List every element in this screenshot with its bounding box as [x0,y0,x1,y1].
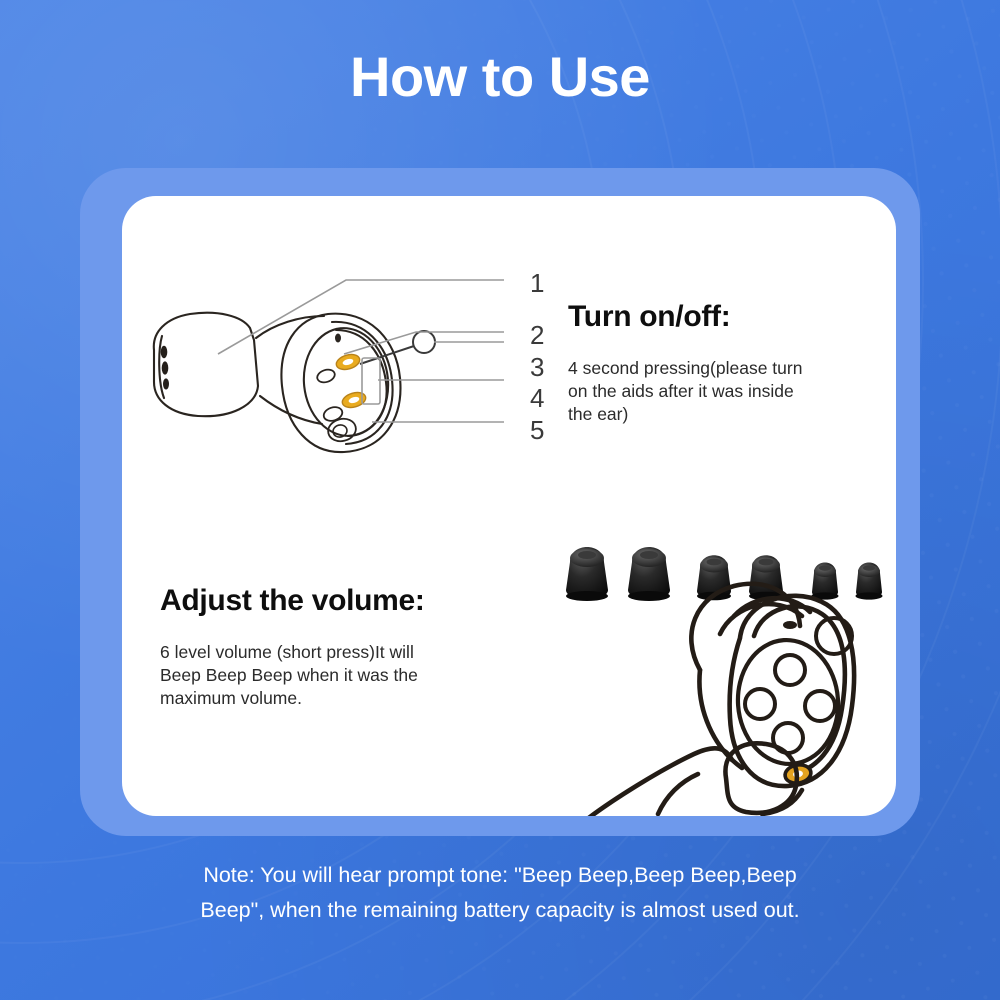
section-adjust-volume: Adjust the volume: 6 level volume (short… [160,584,520,710]
how-to-use-page: How to Use [0,0,1000,1000]
page-title: How to Use [0,46,1000,108]
thumb-pressing-button-illustration [584,578,896,816]
turn-on-off-heading: Turn on/off: [568,300,878,335]
callout-number-3: 3 [530,354,544,380]
callout-number-5: 5 [530,417,544,443]
callout-number-2: 2 [530,322,544,348]
turn-on-off-body-line-1: 4 second pressing(please turn [568,357,878,380]
adjust-volume-body: 6 level volume (short press)It will Beep… [160,641,520,711]
callout-number-1: 1 [530,270,544,296]
turn-on-off-body-line-3: the ear) [568,403,878,426]
adjust-volume-body-line-3: maximum volume. [160,687,520,710]
adjust-volume-body-line-2: Beep Beep Beep when it was the [160,664,520,687]
hearing-aid-diagram [132,254,562,484]
footer-note-line-2: Beep", when the remaining battery capaci… [0,893,1000,928]
adjust-volume-heading: Adjust the volume: [160,584,520,619]
turn-on-off-body-line-2: on the aids after it was inside [568,380,878,403]
footer-note: Note: You will hear prompt tone: "Beep B… [0,858,1000,928]
section-turn-on-off: Turn on/off: 4 second pressing(please tu… [568,300,878,426]
adjust-volume-body-line-1: 6 level volume (short press)It will [160,641,520,664]
turn-on-off-body: 4 second pressing(please turn on the aid… [568,357,878,427]
instruction-card: 1 2 3 4 5 Turn on/off: 4 second pressing… [122,196,896,816]
footer-note-line-1: Note: You will hear prompt tone: "Beep B… [0,858,1000,893]
callout-number-4: 4 [530,385,544,411]
callout-number-list: 1 2 3 4 5 [502,256,562,456]
